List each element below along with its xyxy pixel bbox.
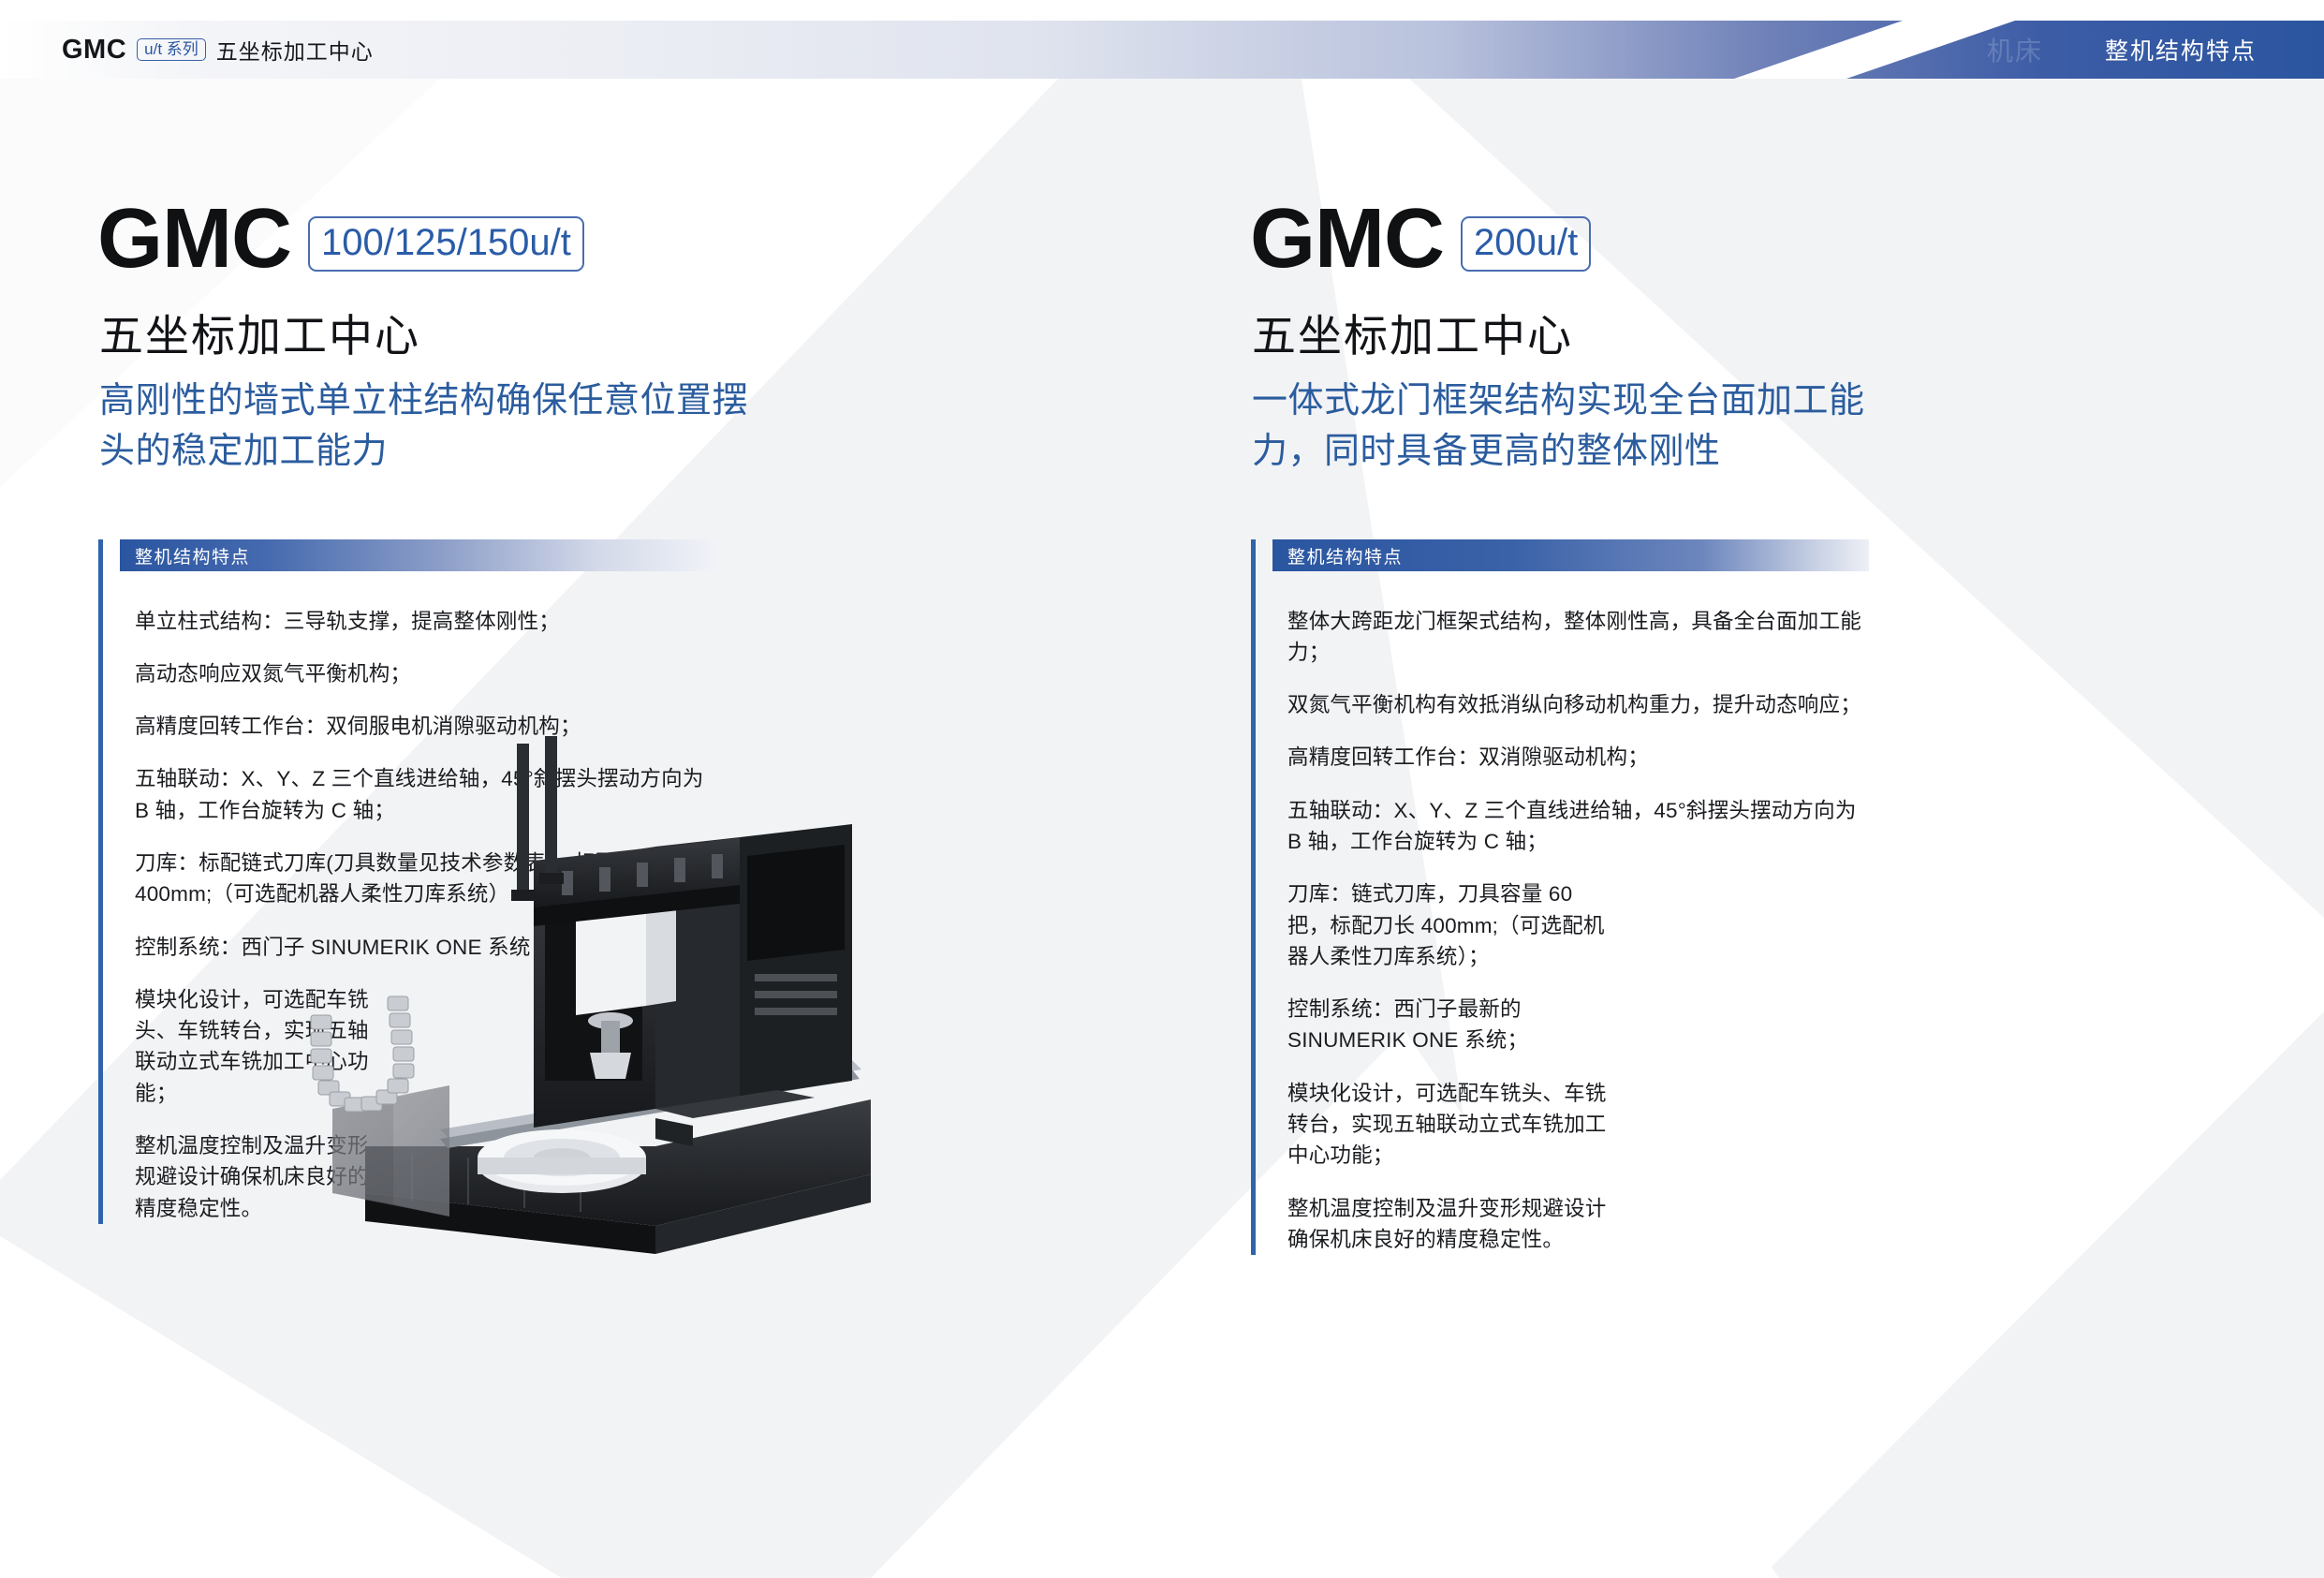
header-series-badge: u/t 系列 — [137, 38, 206, 61]
feature-item: 整机温度控制及温升变形规避设计确保机床良好的精度稳定性。 — [1287, 1193, 1615, 1256]
product-tagline-left: 高刚性的墙式单立柱结构确保任意位置摆头的稳定加工能力 — [99, 376, 755, 478]
panel-right-rule — [1251, 539, 1256, 1255]
panel-title-left: 整机结构特点 — [120, 543, 250, 568]
feature-item: 控制系统：西门子最新的 SINUMERIK ONE 系统； — [1287, 994, 1615, 1056]
feature-item: 模块化设计，可选配车铣头、车铣转台，实现五轴联动立式车铣加工中心功能； — [1287, 1078, 1615, 1172]
feature-panel-right: 整机结构特点 整体大跨距龙门框架式结构，整体刚性高，具备全台面加工能力； 双氮气… — [1251, 539, 1869, 1255]
panel-header-right: 整机结构特点 — [1272, 539, 1869, 571]
gmc-100-125-150ut-machine-illustration — [253, 706, 890, 1287]
feature-item: 刀库：链式刀库，刀具容量 60 把，标配刀长 400mm;（可选配机器人柔性刀库… — [1287, 878, 1615, 972]
header-brand: GMC — [62, 35, 126, 66]
machine-photo-left — [253, 706, 890, 1287]
feature-list-right: 整体大跨距龙门框架式结构，整体刚性高，具备全台面加工能力； 双氮气平衡机构有效抵… — [1272, 571, 1869, 1255]
product-tagline-right: 一体式龙门框架结构实现全台面加工能力，同时具备更高的整体刚性 — [1252, 376, 1907, 478]
header-watermark-text: 机床 — [1987, 31, 2043, 68]
product-column-left: GMC 100/125/150u/t 五坐标加工中心 高刚性的墙式单立柱结构确保… — [0, 79, 1162, 1578]
feature-item: 高动态响应双氮气平衡机构； — [135, 658, 716, 689]
product-model-badge-left: 100/125/150u/t — [308, 216, 584, 272]
feature-item: 单立柱式结构：三导轨支撑，提高整体刚性； — [135, 606, 716, 637]
product-column-right: GMC 200u/t 五坐标加工中心 一体式龙门框架结构实现全台面加工能力，同时… — [1162, 79, 2324, 1578]
panel-header-left: 整机结构特点 — [120, 539, 716, 571]
header-tab-label: 整机结构特点 — [2105, 33, 2257, 66]
product-brand-right: GMC — [1250, 200, 1444, 278]
product-columns: GMC 100/125/150u/t 五坐标加工中心 高刚性的墙式单立柱结构确保… — [0, 79, 2324, 1578]
product-brand-left: GMC — [97, 200, 291, 278]
product-title-row-right: GMC 200u/t — [1250, 200, 1591, 278]
feature-item: 整体大跨距龙门框架式结构，整体刚性高，具备全台面加工能力； — [1287, 606, 1869, 669]
panel-left-rule — [98, 539, 103, 1224]
product-model-badge-right: 200u/t — [1461, 216, 1591, 272]
feature-item: 双氮气平衡机构有效抵消纵向移动机构重力，提升动态响应； — [1287, 689, 1869, 720]
header-subtitle: 五坐标加工中心 — [216, 34, 374, 66]
product-title-row-left: GMC 100/125/150u/t — [97, 200, 584, 278]
panel-title-right: 整机结构特点 — [1272, 543, 1403, 568]
header-brand-group: GMC u/t 系列 五坐标加工中心 — [62, 21, 374, 79]
feature-item: 高精度回转工作台：双消隙驱动机构； — [1287, 742, 1869, 773]
page-header: GMC u/t 系列 五坐标加工中心 机床 整机结构特点 — [0, 21, 2324, 79]
feature-item: 五轴联动：X、Y、Z 三个直线进给轴，45°斜摆头摆动方向为 B 轴，工作台旋转… — [1287, 795, 1869, 858]
product-name-right: 五坐标加工中心 — [1252, 300, 1573, 364]
header-section-tab: 机床 整机结构特点 — [1837, 21, 2324, 79]
product-name-left: 五坐标加工中心 — [99, 300, 420, 364]
